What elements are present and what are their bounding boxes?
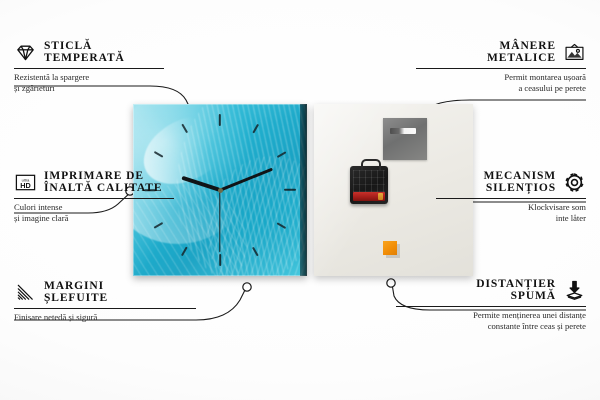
feature-divider bbox=[396, 306, 586, 307]
mechanism-texture bbox=[353, 170, 385, 192]
feature-subtitle: Klockvisare som inte låter bbox=[436, 202, 586, 225]
feature-silent-mechanism: MECANISM SILENȚIOS Klockvisare som inte … bbox=[436, 170, 586, 225]
feature-foam-spacer: DISTANȚIER SPUMĂ Permite menținerea unei… bbox=[396, 278, 586, 333]
feature-titles: MARGINI ȘLEFUITE bbox=[44, 280, 108, 305]
feature-head: DISTANȚIER SPUMĂ bbox=[396, 278, 586, 303]
feature-subtitle: Permit montarea ușoară a ceasului pe per… bbox=[416, 72, 586, 95]
feature-subtitle: Finisare netedă și sigură bbox=[14, 312, 196, 323]
feature-titles: MÂNERE METALICE bbox=[487, 40, 556, 65]
feature-title-line1: MARGINI bbox=[44, 280, 108, 292]
foam-spacer-icon bbox=[563, 279, 586, 302]
callout-dot-foam-spacer bbox=[387, 279, 395, 287]
mechanism-loop bbox=[361, 159, 381, 170]
feature-titles: DISTANȚIER SPUMĂ bbox=[476, 278, 556, 303]
feature-title-line2: ÎNALTĂ CALITATE bbox=[44, 182, 162, 194]
clock-side-edge bbox=[300, 104, 307, 276]
feature-title-line1: STICLĂ bbox=[44, 40, 125, 52]
orange-foam-spacer bbox=[383, 241, 397, 255]
feature-head: ultra HD IMPRIMARE DE ÎNALTĂ CALITATE bbox=[14, 170, 174, 195]
feature-subtitle: Culori intense și imagine clară bbox=[14, 202, 174, 225]
feature-title-line2: METALICE bbox=[487, 52, 556, 64]
feature-polished-edges: MARGINI ȘLEFUITE Finisare netedă și sigu… bbox=[14, 280, 196, 323]
feature-head: MARGINI ȘLEFUITE bbox=[14, 280, 196, 305]
feature-head: STICLĂ TEMPERATĂ bbox=[14, 40, 164, 65]
feature-subtitle: Rezistentă la spargere și zgârieturi bbox=[14, 72, 164, 95]
feature-hd-print: ultra HD IMPRIMARE DE ÎNALTĂ CALITATE Cu… bbox=[14, 170, 174, 225]
feature-divider bbox=[14, 198, 174, 199]
feature-title-line1: IMPRIMARE DE bbox=[44, 170, 162, 182]
feature-subtitle: Permite menținerea unei distanțe constan… bbox=[396, 310, 586, 333]
feature-title-line1: DISTANȚIER bbox=[476, 278, 556, 290]
feature-divider bbox=[14, 68, 164, 69]
diamond-icon bbox=[14, 41, 37, 64]
feature-title-line1: MÂNERE bbox=[499, 40, 556, 52]
feature-head: MÂNERE METALICE bbox=[416, 40, 586, 65]
infographic-canvas: STICLĂ TEMPERATĂ Rezistentă la spargere … bbox=[0, 0, 600, 400]
feature-title-line2: SPUMĂ bbox=[511, 290, 556, 302]
polished-edge-icon bbox=[14, 281, 37, 304]
feature-divider bbox=[14, 308, 196, 309]
feature-title-line2: ȘLEFUITE bbox=[44, 292, 108, 304]
feature-title-line2: TEMPERATĂ bbox=[44, 52, 125, 64]
picture-hanger-icon bbox=[563, 41, 586, 64]
callout-dot-polished-edges bbox=[243, 283, 251, 291]
gear-icon bbox=[563, 171, 586, 194]
hanger-slot bbox=[390, 128, 416, 134]
svg-text:HD: HD bbox=[20, 181, 31, 190]
feature-metal-handles: MÂNERE METALICE Permit montarea ușoară a… bbox=[416, 40, 586, 95]
feature-tempered-glass: STICLĂ TEMPERATĂ Rezistentă la spargere … bbox=[14, 40, 164, 95]
feature-title-line2: SILENȚIOS bbox=[486, 182, 556, 194]
feature-divider bbox=[436, 198, 586, 199]
metal-hanger-plate bbox=[383, 118, 427, 160]
product-image bbox=[133, 104, 473, 276]
feature-title-line1: MECANISM bbox=[484, 170, 556, 182]
feature-titles: IMPRIMARE DE ÎNALTĂ CALITATE bbox=[44, 170, 162, 195]
feature-titles: MECANISM SILENȚIOS bbox=[484, 170, 556, 195]
ultra-hd-icon: ultra HD bbox=[14, 171, 37, 194]
feature-titles: STICLĂ TEMPERATĂ bbox=[44, 40, 125, 65]
feature-head: MECANISM SILENȚIOS bbox=[436, 170, 586, 195]
clock-mechanism-black bbox=[350, 166, 388, 204]
feature-divider bbox=[416, 68, 586, 69]
aa-battery-red bbox=[353, 192, 385, 201]
